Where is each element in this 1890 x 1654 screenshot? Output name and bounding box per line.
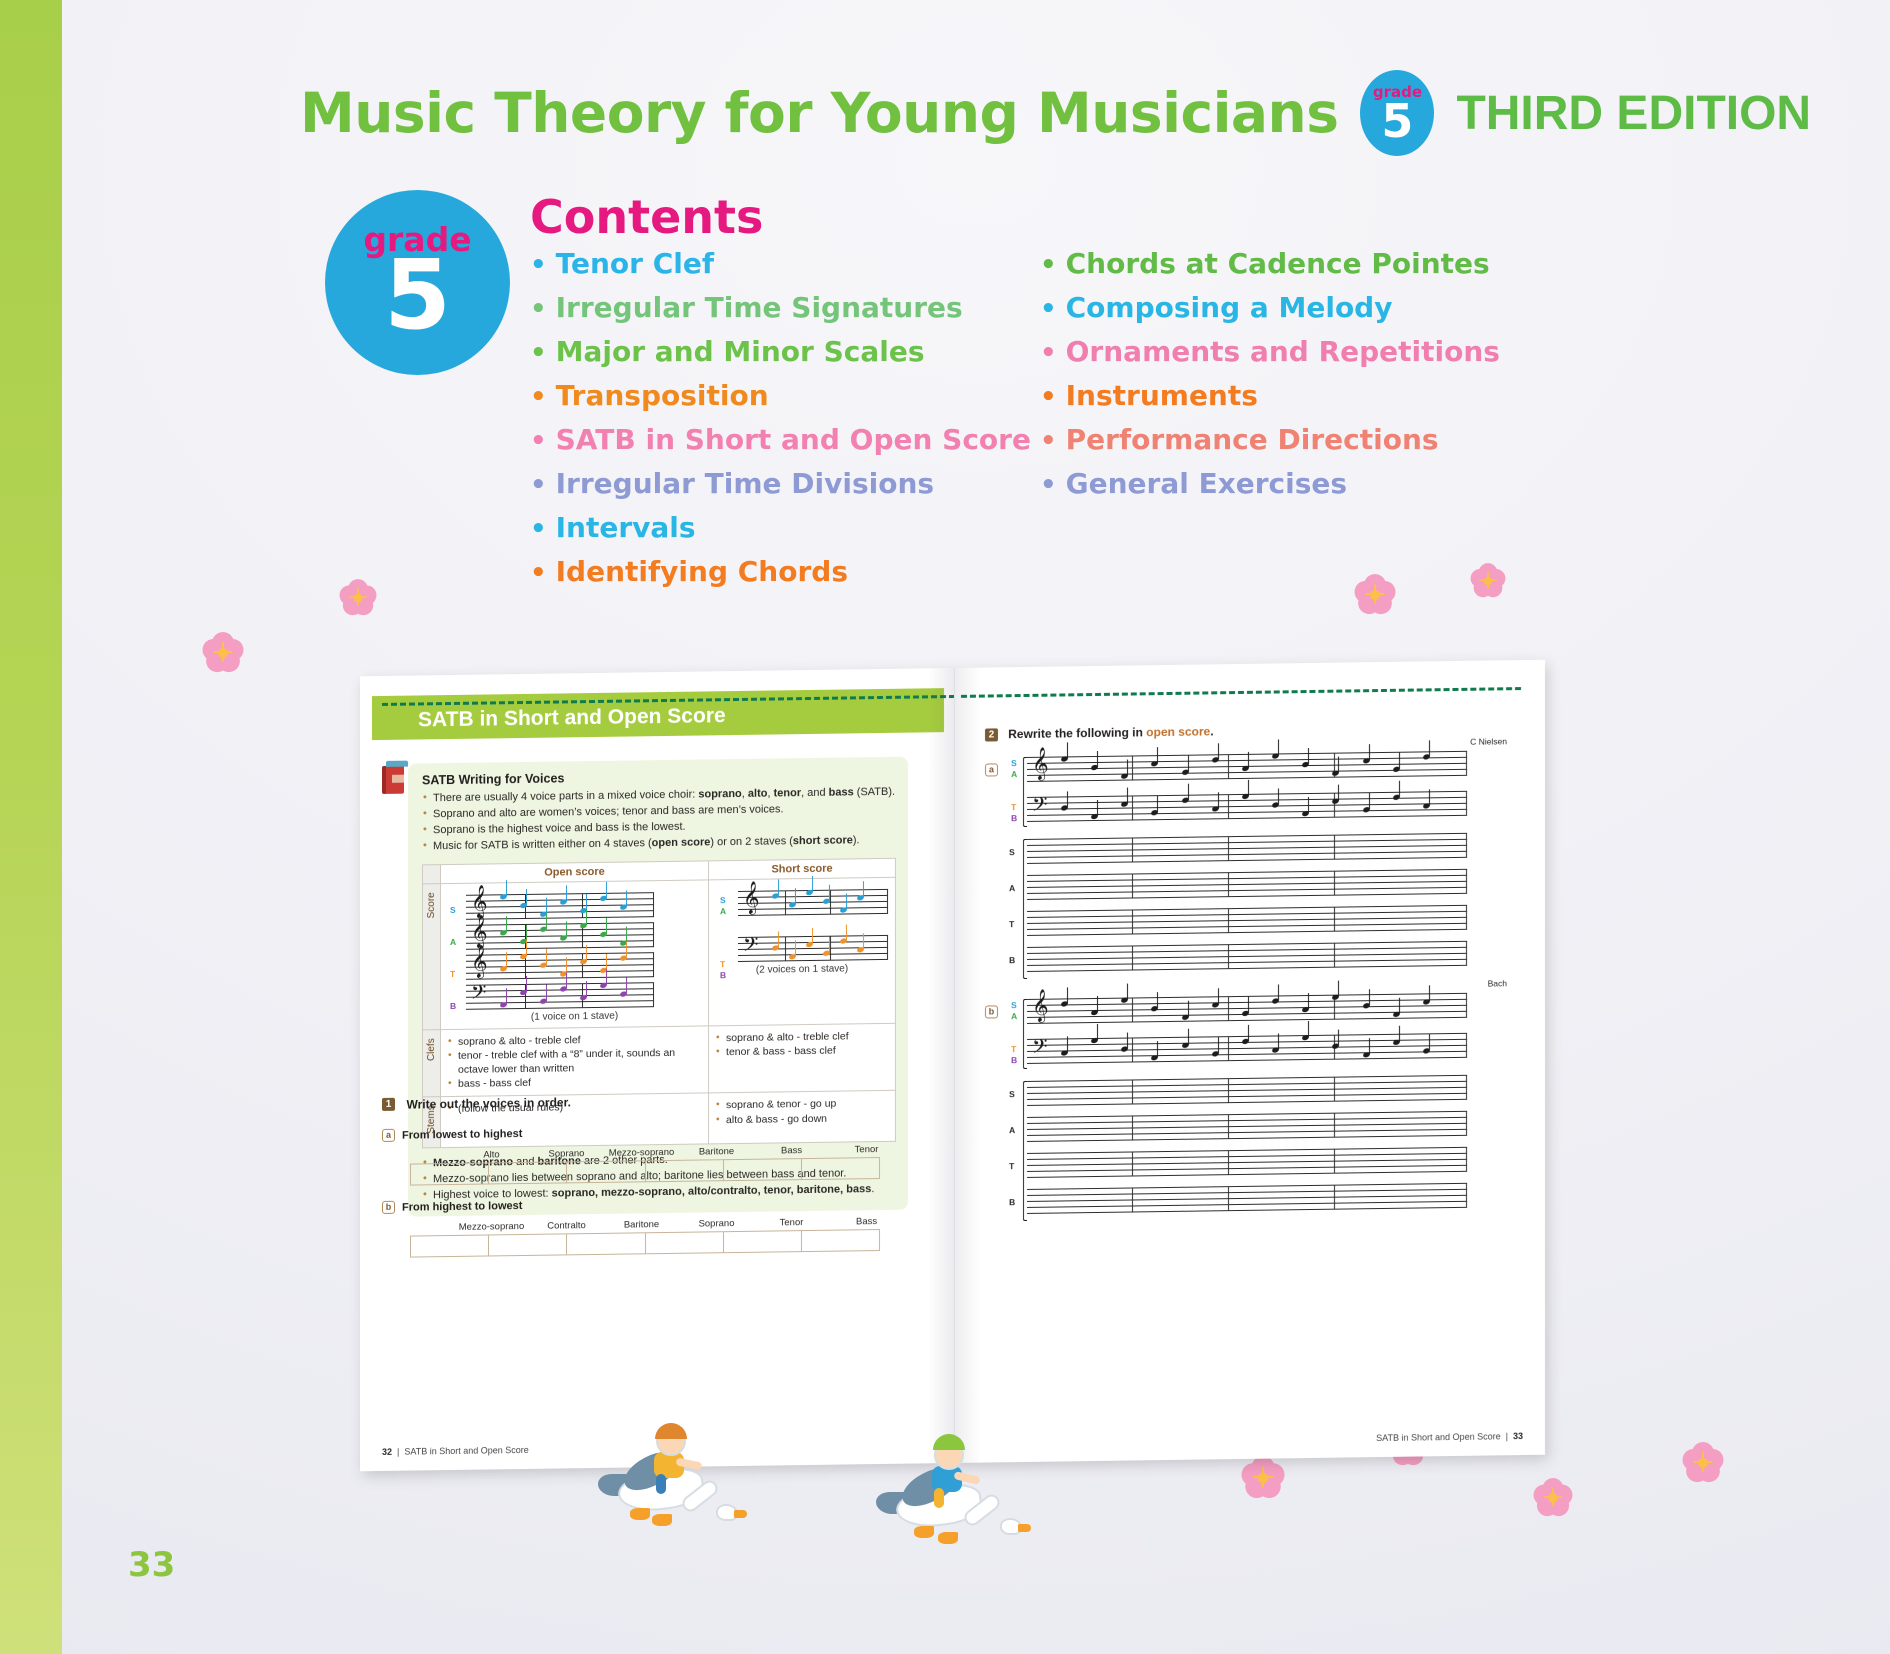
note-stem bbox=[526, 976, 527, 992]
note-stem bbox=[1097, 751, 1098, 767]
blank-answer-system[interactable]: SATB bbox=[1005, 830, 1515, 971]
barline bbox=[887, 935, 888, 960]
barline bbox=[653, 982, 654, 1007]
note-stem bbox=[1338, 757, 1339, 773]
barline bbox=[1334, 871, 1335, 896]
col-header-short-score: Short score bbox=[709, 858, 896, 880]
barline bbox=[1228, 1036, 1229, 1061]
toc-item[interactable]: •SATB in Short and Open Score bbox=[530, 426, 960, 454]
exercise-part-letter: a bbox=[985, 763, 998, 776]
barline bbox=[1334, 1185, 1335, 1210]
toc-item-label: Irregular Time Signatures bbox=[556, 294, 963, 322]
note-stem bbox=[546, 948, 547, 964]
note-stem bbox=[1308, 797, 1309, 813]
voice-label-b: B bbox=[1011, 813, 1017, 823]
goose-beak bbox=[734, 1510, 747, 1518]
note-stem bbox=[566, 921, 567, 937]
exercise-part-heading: bFrom highest to lowest bbox=[382, 1191, 922, 1217]
toc-item[interactable]: •Ornaments and Repetitions bbox=[1040, 338, 1490, 366]
note-stem bbox=[1369, 793, 1370, 809]
barline bbox=[653, 952, 654, 977]
barline bbox=[1132, 909, 1133, 934]
note-stem bbox=[778, 879, 779, 895]
barline bbox=[1132, 997, 1133, 1022]
info-box-title: SATB Writing for Voices bbox=[422, 767, 896, 788]
system-bracket bbox=[1023, 839, 1027, 979]
blank-stave[interactable] bbox=[1027, 1181, 1467, 1213]
exercise-2-heading: 2 Rewrite the following in open score. bbox=[985, 720, 1515, 741]
goose-foot bbox=[938, 1532, 958, 1544]
barline bbox=[1334, 1149, 1335, 1174]
note-stem bbox=[1248, 752, 1249, 768]
note-stem bbox=[526, 925, 527, 941]
toc-item[interactable]: •Transposition bbox=[530, 382, 960, 410]
barline bbox=[1132, 1115, 1133, 1140]
goose-foot bbox=[652, 1514, 672, 1526]
note-stem bbox=[1188, 756, 1189, 772]
toc-item-label: Tenor Clef bbox=[556, 250, 714, 278]
word-bank-item: Mezzo-soprano bbox=[454, 1221, 529, 1233]
toc-item[interactable]: •Irregular Time Signatures bbox=[530, 294, 960, 322]
clefs-open-list: soprano & alto - treble cleftenor - treb… bbox=[448, 1031, 701, 1091]
open-score-caption: (1 voice on 1 stave) bbox=[448, 1007, 701, 1024]
blank-answer-system[interactable]: SATB bbox=[1005, 1072, 1515, 1213]
note-stem bbox=[606, 969, 607, 985]
exercise-number-badge: 2 bbox=[985, 728, 998, 741]
short-score-music-cell: 𝄞SA𝄢TB (2 voices on 1 stave) bbox=[709, 877, 896, 1026]
note-stem bbox=[1399, 781, 1400, 797]
answer-box[interactable] bbox=[567, 1233, 645, 1254]
stave-line bbox=[1027, 1099, 1467, 1106]
toc-item-label: Intervals bbox=[556, 514, 696, 542]
flower-decoration bbox=[1468, 561, 1507, 600]
note-stem bbox=[1369, 989, 1370, 1005]
note-stem bbox=[1399, 998, 1400, 1014]
bullet-icon: • bbox=[1040, 252, 1057, 278]
word-bank-item: Soprano bbox=[529, 1148, 604, 1160]
clefs-open-cell: soprano & alto - treble cleftenor - treb… bbox=[441, 1026, 709, 1097]
voice-label-t: T bbox=[1011, 1044, 1016, 1054]
bass-clef-icon: 𝄢 bbox=[1032, 1037, 1047, 1061]
toc-item[interactable]: •Intervals bbox=[530, 514, 960, 542]
exercise-2-title-after: . bbox=[1210, 724, 1213, 738]
voice-label-b: B bbox=[720, 970, 726, 980]
note-stem bbox=[1097, 996, 1098, 1012]
toc-item-label: Composing a Melody bbox=[1066, 294, 1393, 322]
exercise-part: aFrom lowest to highestAltoSopranoMezzo-… bbox=[382, 1119, 922, 1186]
system-bracket bbox=[1023, 1081, 1027, 1221]
music-stave: 𝄞 bbox=[1027, 749, 1467, 781]
answer-box[interactable] bbox=[411, 1163, 489, 1184]
note-stem bbox=[1278, 984, 1279, 1000]
note-stem bbox=[1218, 988, 1219, 1004]
voice-label-a: A bbox=[720, 906, 726, 916]
barline bbox=[1228, 794, 1229, 819]
barline bbox=[1466, 833, 1467, 858]
barline bbox=[1466, 869, 1467, 894]
note-stem bbox=[1308, 993, 1309, 1009]
toc-item-label: General Exercises bbox=[1066, 470, 1347, 498]
blank-stave[interactable] bbox=[1027, 903, 1467, 935]
exercise-1-block: 1 Write out the voices in order. aFrom l… bbox=[382, 1088, 922, 1258]
footer-separator: | bbox=[395, 1447, 402, 1457]
exercise-2-title-before: Rewrite the following in bbox=[1008, 725, 1146, 741]
masthead-grade-badge: grade 5 bbox=[1360, 70, 1434, 156]
system-bracket bbox=[1023, 999, 1027, 1069]
note-stem bbox=[1278, 1033, 1279, 1049]
note-stem bbox=[626, 926, 627, 942]
note-stem bbox=[1338, 981, 1339, 997]
book-page-left: SATB in Short and Open Score SATB Writin… bbox=[360, 668, 955, 1471]
footer-page-number: 32 bbox=[382, 1447, 392, 1457]
word-bank-item: Bass bbox=[829, 1216, 904, 1228]
child-leg bbox=[656, 1474, 666, 1494]
voice-label-s: S bbox=[1009, 1089, 1015, 1099]
voice-label-s: S bbox=[1011, 758, 1017, 768]
note-stem bbox=[812, 876, 813, 892]
table-corner-cell bbox=[423, 864, 441, 883]
note-stem bbox=[586, 981, 587, 997]
blank-stave[interactable] bbox=[1027, 1073, 1467, 1105]
barline bbox=[1132, 837, 1133, 862]
barline bbox=[1466, 1033, 1467, 1058]
toc-item-label: Ornaments and Repetitions bbox=[1066, 338, 1500, 366]
bullet-icon: • bbox=[530, 472, 547, 498]
note-stem bbox=[626, 941, 627, 957]
grade-badge: grade 5 bbox=[325, 190, 510, 375]
voice-label-b: B bbox=[1009, 1197, 1015, 1207]
toc-item[interactable]: •Instruments bbox=[1040, 382, 1490, 410]
bullet-icon: • bbox=[530, 252, 547, 278]
footer-left: 32 | SATB in Short and Open Score bbox=[382, 1445, 529, 1457]
note-stem bbox=[566, 885, 567, 901]
barline bbox=[830, 935, 831, 960]
note-stem bbox=[1157, 796, 1158, 812]
barline bbox=[1132, 1187, 1133, 1212]
barline bbox=[1466, 751, 1467, 776]
note-stem bbox=[1338, 1030, 1339, 1046]
exercise-part-letter: b bbox=[382, 1201, 395, 1214]
voice-label-t: T bbox=[1009, 1161, 1014, 1171]
note-stem bbox=[1369, 744, 1370, 760]
toc-item[interactable]: •Chords at Cadence Pointes bbox=[1040, 250, 1490, 278]
note-stem bbox=[1067, 791, 1068, 807]
barline bbox=[1132, 1151, 1133, 1176]
word-bank-item: Baritone bbox=[604, 1219, 679, 1231]
note-stem bbox=[1218, 1037, 1219, 1053]
blank-stave[interactable] bbox=[1027, 1109, 1467, 1141]
toc-item-label: Instruments bbox=[1066, 382, 1258, 410]
goose-foot bbox=[630, 1508, 650, 1520]
barline bbox=[1228, 996, 1229, 1021]
table-row-clefs: Clefs soprano & alto - treble cleftenor … bbox=[423, 1023, 896, 1097]
bullet-icon: • bbox=[1040, 384, 1057, 410]
stave-pair: 𝄞𝄢SATB bbox=[1005, 990, 1515, 1063]
note-stem bbox=[795, 888, 796, 904]
barline bbox=[1228, 944, 1229, 969]
stave-line bbox=[466, 916, 654, 920]
note-stem bbox=[1248, 1025, 1249, 1041]
flower-decoration bbox=[337, 577, 378, 618]
note-stem bbox=[1429, 985, 1430, 1001]
bass-clef-icon: 𝄢 bbox=[471, 982, 486, 1006]
stave-line bbox=[738, 901, 888, 904]
barline bbox=[1466, 791, 1467, 816]
word-bank-item: Baritone bbox=[679, 1146, 754, 1158]
exercise-part-prompt: From highest to lowest bbox=[402, 1200, 522, 1214]
toc-item-label: Irregular Time Divisions bbox=[556, 470, 934, 498]
music-stave: 𝄞 bbox=[466, 950, 654, 979]
flower-core bbox=[218, 648, 228, 658]
toc-item[interactable]: •Identifying Chords bbox=[530, 558, 960, 586]
stave-line bbox=[1027, 1057, 1467, 1064]
note-stem bbox=[586, 909, 587, 925]
answer-box[interactable] bbox=[489, 1234, 567, 1255]
note-stem bbox=[1429, 789, 1430, 805]
note-stem bbox=[1369, 1038, 1370, 1054]
note-stem bbox=[812, 928, 813, 944]
barline bbox=[785, 890, 786, 915]
answer-box[interactable] bbox=[646, 1160, 724, 1181]
toc-item[interactable]: •Major and Minor Scales bbox=[530, 338, 960, 366]
contents-column-right: •Chords at Cadence Pointes•Composing a M… bbox=[1040, 250, 1490, 514]
answer-box[interactable] bbox=[724, 1231, 802, 1252]
barline bbox=[582, 893, 583, 918]
barline bbox=[1228, 754, 1229, 779]
stave-line bbox=[1027, 1017, 1467, 1024]
note-stem bbox=[1278, 788, 1279, 804]
note-stem bbox=[795, 940, 796, 956]
note-stem bbox=[1278, 739, 1279, 755]
short-score-staves: 𝄞SA𝄢TB bbox=[716, 887, 888, 961]
exercise-number-badge: 1 bbox=[382, 1098, 395, 1111]
stave-line bbox=[1027, 1171, 1467, 1178]
note-stem bbox=[606, 882, 607, 898]
note-stem bbox=[1188, 1029, 1189, 1045]
answer-box[interactable] bbox=[646, 1232, 724, 1253]
flower-core bbox=[1484, 577, 1493, 586]
list-item: tenor - treble clef with a “8” under it,… bbox=[448, 1045, 701, 1077]
contents-column-left: •Tenor Clef•Irregular Time Signatures•Ma… bbox=[530, 250, 960, 602]
answer-box[interactable] bbox=[567, 1161, 645, 1182]
exercise-part-letter: a bbox=[382, 1129, 395, 1142]
barline bbox=[1228, 836, 1229, 861]
voice-label-b: B bbox=[1011, 1055, 1017, 1065]
barline bbox=[1132, 1037, 1133, 1062]
voice-label-t: T bbox=[450, 969, 455, 979]
bullet-icon: • bbox=[1040, 472, 1057, 498]
barline bbox=[785, 936, 786, 961]
footer-right: SATB in Short and Open Score | 33 bbox=[1376, 1431, 1523, 1443]
list-item: bass - bass clef bbox=[448, 1074, 701, 1092]
treble-clef-icon: 𝄞 bbox=[743, 883, 760, 911]
answer-box[interactable] bbox=[489, 1162, 567, 1183]
toc-item[interactable]: •Tenor Clef bbox=[530, 250, 960, 278]
exercise-2-block: 2 Rewrite the following in open score. C… bbox=[985, 720, 1515, 1223]
exercise-part-letter: b bbox=[985, 1005, 998, 1018]
flower-decoration bbox=[1531, 1476, 1575, 1520]
dashed-rule bbox=[382, 687, 955, 706]
barline bbox=[1334, 1077, 1335, 1102]
blank-stave[interactable] bbox=[1027, 1145, 1467, 1177]
music-stave: 𝄞 bbox=[466, 890, 654, 919]
barline bbox=[1334, 943, 1335, 968]
goose-with-rider bbox=[600, 1430, 780, 1560]
book-spread: SATB in Short and Open Score SATB Writin… bbox=[360, 660, 1545, 1472]
note-stem bbox=[1188, 1001, 1189, 1017]
stave-line bbox=[1027, 1207, 1467, 1214]
toc-item[interactable]: •Irregular Time Divisions bbox=[530, 470, 960, 498]
note-stem bbox=[1218, 743, 1219, 759]
note-stem bbox=[586, 894, 587, 910]
bullet-icon: • bbox=[1040, 296, 1057, 322]
stave-line bbox=[738, 907, 888, 910]
treble-clef-icon: 𝄞 bbox=[1032, 992, 1049, 1020]
flower-decoration bbox=[200, 630, 246, 676]
blank-stave[interactable] bbox=[1027, 867, 1467, 899]
stave-line bbox=[1027, 893, 1467, 900]
voice-label-s: S bbox=[720, 895, 726, 905]
answer-box-row[interactable] bbox=[410, 1157, 880, 1186]
voice-label-b: B bbox=[450, 1001, 456, 1011]
answer-box[interactable] bbox=[802, 1158, 879, 1179]
note-stem bbox=[1097, 1024, 1098, 1040]
word-bank-item: Contralto bbox=[529, 1220, 604, 1232]
note-stem bbox=[1157, 992, 1158, 1008]
barline bbox=[1466, 1183, 1467, 1208]
note-stem bbox=[1399, 1026, 1400, 1042]
toc-item-label: Identifying Chords bbox=[556, 558, 848, 586]
stave-line bbox=[466, 922, 654, 926]
note-stem bbox=[1429, 1034, 1430, 1050]
toc-item[interactable]: •Performance Directions bbox=[1040, 426, 1490, 454]
bullet-icon: • bbox=[530, 340, 547, 366]
book-page-right: 2 Rewrite the following in open score. C… bbox=[955, 660, 1545, 1463]
stave-line bbox=[738, 895, 888, 898]
composer-credit: C Nielsen bbox=[1470, 736, 1507, 747]
word-bank-item: Tenor bbox=[829, 1144, 904, 1156]
music-stave: 𝄢 bbox=[738, 933, 888, 961]
stave-line bbox=[738, 953, 888, 956]
note-stem bbox=[1157, 1041, 1158, 1057]
chapter-title: SATB in Short and Open Score bbox=[418, 704, 726, 732]
bass-clef-icon: 𝄢 bbox=[1032, 795, 1047, 819]
list-item: tenor & bass - bass clef bbox=[716, 1043, 888, 1060]
barline bbox=[887, 889, 888, 914]
voice-label-s: S bbox=[1011, 1000, 1017, 1010]
note-stem bbox=[506, 952, 507, 968]
treble-clef-icon: 𝄞 bbox=[471, 917, 488, 945]
bass-clef-icon: 𝄢 bbox=[743, 934, 758, 958]
toc-item-label: Performance Directions bbox=[1066, 426, 1439, 454]
note-stem bbox=[1429, 740, 1430, 756]
music-stave: 𝄢 bbox=[1027, 1031, 1467, 1063]
note-stem bbox=[526, 940, 527, 956]
goose-beak bbox=[1018, 1524, 1031, 1532]
toc-item-label: Transposition bbox=[556, 382, 769, 410]
bullet-icon: • bbox=[530, 428, 547, 454]
word-bank-item: Soprano bbox=[679, 1218, 754, 1230]
flower-core bbox=[1698, 1458, 1708, 1468]
barline bbox=[1466, 905, 1467, 930]
blank-stave[interactable] bbox=[1027, 939, 1467, 971]
note-stem bbox=[506, 916, 507, 932]
voice-label-a: A bbox=[1011, 1011, 1017, 1021]
edition-label: THIRD EDITION bbox=[1456, 86, 1811, 141]
stave-line bbox=[738, 935, 888, 938]
note-stem bbox=[1248, 997, 1249, 1013]
blank-stave[interactable] bbox=[1027, 831, 1467, 863]
note-stem bbox=[506, 988, 507, 1004]
note-stem bbox=[1067, 1036, 1068, 1052]
open-score-staves: 𝄞S𝄞A𝄞T𝄢B bbox=[448, 889, 701, 1009]
note-stem bbox=[1308, 1021, 1309, 1037]
barline bbox=[1228, 1078, 1229, 1103]
dashed-rule-right bbox=[961, 687, 1521, 698]
toc-item[interactable]: •Composing a Melody bbox=[1040, 294, 1490, 322]
note-stem bbox=[778, 931, 779, 947]
answer-box[interactable] bbox=[802, 1230, 879, 1251]
answer-box[interactable] bbox=[411, 1235, 489, 1256]
note-stem bbox=[1338, 785, 1339, 801]
note-stem bbox=[566, 957, 567, 973]
toc-item[interactable]: •General Exercises bbox=[1040, 470, 1490, 498]
voice-label-a: A bbox=[1009, 1125, 1015, 1135]
exercise-part-prompt: From lowest to highest bbox=[402, 1128, 522, 1142]
row-label-score: Score bbox=[423, 883, 441, 1029]
voice-label-s: S bbox=[450, 905, 456, 915]
barline bbox=[1132, 945, 1133, 970]
voice-label-t: T bbox=[720, 959, 725, 969]
voice-label-a: A bbox=[1009, 883, 1015, 893]
barline bbox=[1132, 1079, 1133, 1104]
answer-box-row[interactable] bbox=[410, 1229, 880, 1258]
exercise-part-heading: aFrom lowest to highest bbox=[382, 1119, 922, 1145]
barline bbox=[1466, 941, 1467, 966]
barline bbox=[1132, 873, 1133, 898]
flower-decoration bbox=[1239, 1454, 1287, 1502]
note-stem bbox=[1218, 792, 1219, 808]
word-bank-item: Alto bbox=[454, 1149, 529, 1161]
flower-decoration bbox=[1680, 1440, 1726, 1486]
bullet-icon: • bbox=[1040, 428, 1057, 454]
note-stem bbox=[526, 889, 527, 905]
barline bbox=[1466, 993, 1467, 1018]
given-score-system: C Nielsena𝄞𝄢SATB bbox=[985, 748, 1515, 821]
barline bbox=[1228, 1150, 1229, 1175]
note-stem bbox=[1127, 1033, 1128, 1049]
music-stave: 𝄢 bbox=[466, 980, 654, 1009]
barline bbox=[1132, 795, 1133, 820]
note-stem bbox=[1248, 780, 1249, 796]
answer-box[interactable] bbox=[724, 1159, 802, 1180]
exercise-1-parts: aFrom lowest to highestAltoSopranoMezzo-… bbox=[382, 1119, 922, 1258]
flower-core bbox=[1548, 1493, 1558, 1503]
note-stem bbox=[606, 918, 607, 934]
footer-chapter: SATB in Short and Open Score bbox=[1376, 1431, 1500, 1443]
toc-item-label: SATB in Short and Open Score bbox=[556, 426, 1031, 454]
note-stem bbox=[606, 954, 607, 970]
barline bbox=[1466, 1111, 1467, 1136]
music-stave: 𝄞 bbox=[738, 887, 888, 915]
barline bbox=[1228, 872, 1229, 897]
note-stem bbox=[829, 936, 830, 952]
masthead-grade-number: 5 bbox=[1381, 100, 1413, 142]
stave-line bbox=[1027, 857, 1467, 864]
exercise-2-systems: C Nielsena𝄞𝄢SATBSATBBachb𝄞𝄢SATBSATB bbox=[985, 748, 1515, 1213]
contents-heading: Contents bbox=[530, 190, 763, 244]
note-stem bbox=[1399, 753, 1400, 769]
